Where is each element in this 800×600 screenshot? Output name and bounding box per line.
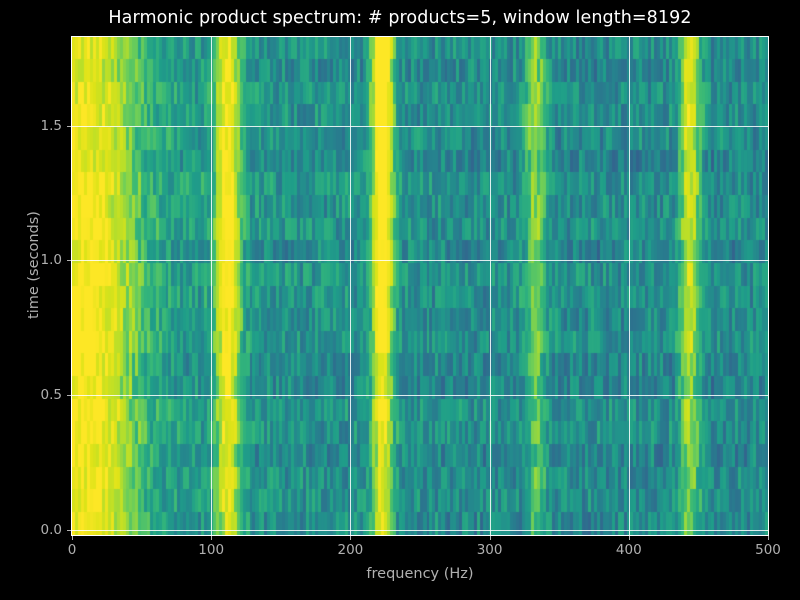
y-tick-mark [67, 530, 71, 531]
y-tick-label: 0.0 [41, 522, 62, 538]
page-title: Harmonic product spectrum: # products=5,… [0, 8, 800, 28]
x-tick-mark [72, 536, 73, 540]
figure-canvas: Harmonic product spectrum: # products=5,… [0, 0, 800, 600]
axes-spine-bottom [72, 535, 769, 536]
x-tick-label: 300 [477, 542, 503, 558]
x-tick-mark [490, 536, 491, 540]
y-tick-label: 0.5 [41, 387, 62, 403]
x-tick-label: 100 [198, 542, 224, 558]
x-tick-label: 200 [338, 542, 364, 558]
axes-spine-right [768, 36, 769, 536]
x-tick-label: 0 [68, 542, 77, 558]
x-tick-mark [350, 536, 351, 540]
x-tick-mark [629, 536, 630, 540]
y-tick-mark [67, 395, 71, 396]
y-tick-label: 1.5 [41, 118, 62, 134]
x-axis-label: frequency (Hz) [72, 566, 768, 582]
y-axis-label: time (seconds) [26, 155, 42, 375]
y-tick-mark [67, 126, 71, 127]
spectrogram-heatmap [72, 37, 768, 535]
heatmap-axes [72, 37, 768, 535]
x-tick-mark [768, 536, 769, 540]
x-tick-label: 400 [616, 542, 642, 558]
y-tick-mark [67, 260, 71, 261]
y-tick-label: 1.0 [41, 252, 62, 268]
x-tick-label: 500 [755, 542, 781, 558]
x-tick-mark [211, 536, 212, 540]
